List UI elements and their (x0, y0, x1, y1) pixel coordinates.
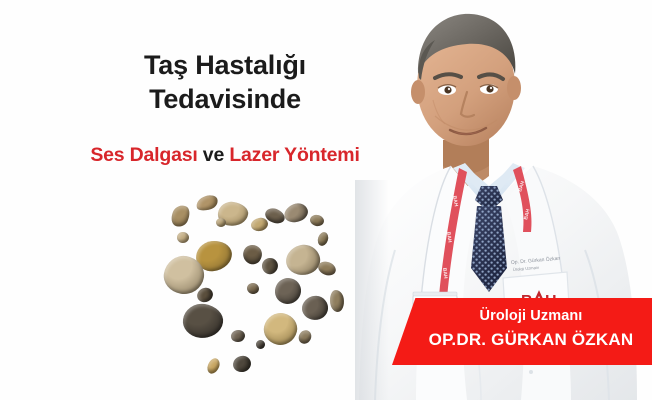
stone-fragment (309, 213, 325, 227)
promo-banner-image: BAH BAH BAH BAH BAH O (0, 0, 652, 400)
headline-line-2: Tedavisinde (30, 82, 420, 116)
headline-line-1: Taş Hastalığı (30, 48, 420, 82)
stone-fragment (216, 200, 249, 228)
stone-fragment (230, 329, 246, 343)
doctor-name-banner-text: Üroloji Uzmanı OP.DR. GÜRKAN ÖZKAN (420, 306, 642, 352)
stone-fragment (256, 340, 265, 349)
stone-fragment (261, 309, 301, 348)
subheadline-part-2: ve (198, 144, 230, 166)
stone-fragment (296, 328, 313, 346)
subheadline: Ses Dalgası ve Lazer Yöntemi (30, 143, 420, 169)
stone-fragment (168, 202, 192, 229)
stone-fragment (231, 354, 253, 374)
stone-fragment (239, 241, 265, 267)
stone-fragment (250, 216, 269, 232)
headline: Taş Hastalığı Tedavisinde (30, 48, 420, 116)
doctor-name-label: OP.DR. GÜRKAN ÖZKAN (420, 327, 642, 352)
stone-fragment (177, 232, 189, 243)
stone-fragment (299, 293, 331, 324)
stone-fragment (316, 231, 330, 247)
stone-fragment (194, 193, 219, 213)
stone-fragment (216, 218, 226, 227)
stone-fragment (274, 277, 303, 306)
doctor-name-banner: Üroloji Uzmanı OP.DR. GÜRKAN ÖZKAN (392, 298, 652, 365)
stone-fragment (282, 200, 311, 226)
stone-fragment (263, 205, 287, 227)
stone-fragment (259, 255, 281, 277)
subheadline-part-3: Lazer Yöntemi (229, 144, 359, 166)
doctor-specialty-label: Üroloji Uzmanı (420, 306, 642, 327)
stone-fragment (195, 239, 234, 273)
stone-fragment (205, 357, 221, 376)
stone-fragment (316, 259, 337, 277)
stone-fragment (195, 285, 215, 304)
stone-fragment (181, 301, 225, 340)
subheadline-part-1: Ses Dalgası (90, 144, 197, 166)
stone-fragment (246, 282, 260, 295)
stone-fragment (283, 241, 323, 278)
stone-fragment (329, 289, 346, 313)
stone-fragment (161, 253, 207, 297)
